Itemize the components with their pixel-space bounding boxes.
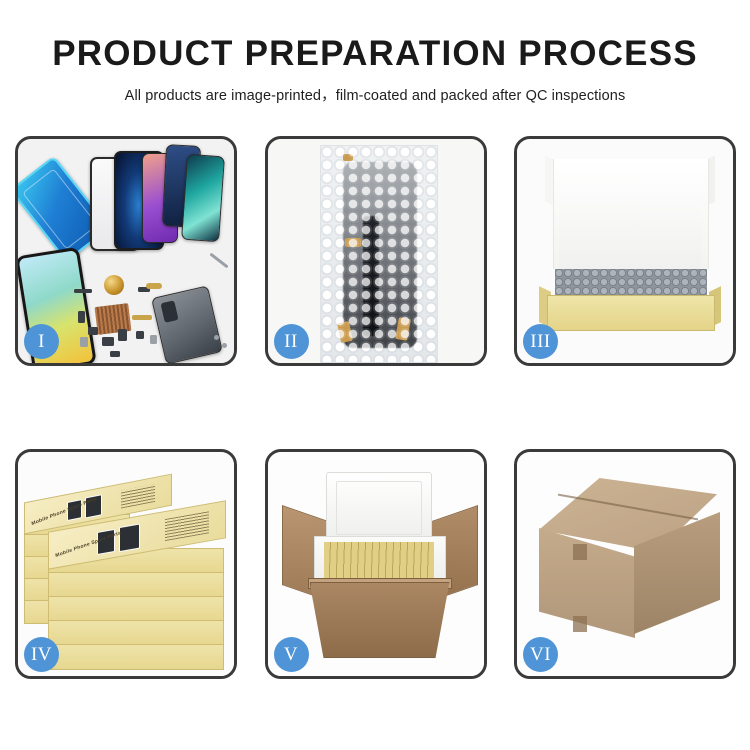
small-part: [102, 337, 114, 346]
step-panel-2[interactable]: II: [265, 136, 487, 366]
vibration-motor-part: [104, 275, 124, 295]
small-part: [80, 337, 88, 347]
screw-part: [214, 335, 219, 340]
product-preparation-infographic: PRODUCT PREPARATION PROCESS All products…: [0, 0, 750, 750]
step-badge-3: III: [523, 324, 558, 359]
bubble-texture-overlay: [321, 146, 437, 362]
box-spec-lines: [121, 484, 155, 509]
step-panel-3[interactable]: III: [514, 136, 736, 366]
step-badge-4: IV: [24, 637, 59, 672]
bubble-wrap-bag: [320, 145, 438, 363]
tweezer-tool: [209, 253, 228, 269]
small-part: [132, 315, 152, 320]
stacked-box: [48, 572, 224, 598]
process-row-top: I II: [15, 136, 736, 366]
page-title: PRODUCT PREPARATION PROCESS: [0, 36, 750, 73]
small-part: [110, 351, 120, 357]
stacked-box: [48, 596, 224, 622]
small-part: [136, 331, 144, 339]
small-part: [150, 335, 157, 344]
small-part: [78, 311, 85, 323]
foam-liner: [559, 181, 701, 273]
small-part: [74, 289, 92, 293]
phone-back-cover: [151, 285, 223, 363]
step-panel-4[interactable]: Mobile Phone Spare Parts: [15, 449, 237, 679]
step-badge-1: I: [24, 324, 59, 359]
step-panel-6[interactable]: VI: [514, 449, 736, 679]
step-panel-1[interactable]: I: [15, 136, 237, 366]
teal-screen-phone: [181, 154, 225, 242]
step-panel-5[interactable]: V: [265, 449, 487, 679]
small-part: [88, 327, 98, 335]
carton-hand-hole: [573, 544, 587, 560]
step-badge-6: VI: [523, 637, 558, 672]
step-badge-5: V: [274, 637, 309, 672]
page-subtitle: All products are image-printed，film-coat…: [0, 84, 750, 105]
foam-cooler-lid: [326, 472, 432, 544]
process-step-grid: I II: [15, 136, 736, 679]
stacked-box: [48, 644, 224, 670]
small-part: [146, 283, 162, 289]
screw-part: [222, 343, 227, 348]
box-product-thumbnail: [119, 523, 140, 552]
yellow-boxes-inside: [324, 542, 434, 578]
bubble-wrap-fill: [555, 269, 707, 297]
stacked-box: [48, 620, 224, 646]
box-spec-lines: [165, 511, 209, 541]
header: PRODUCT PREPARATION PROCESS All products…: [0, 0, 750, 105]
carton-body: [310, 582, 450, 658]
carton-hand-hole: [573, 616, 587, 632]
box-front-panel: [547, 295, 715, 331]
process-row-bottom: Mobile Phone Spare Parts: [15, 449, 736, 679]
step-badge-2: II: [274, 324, 309, 359]
small-part: [118, 329, 127, 341]
